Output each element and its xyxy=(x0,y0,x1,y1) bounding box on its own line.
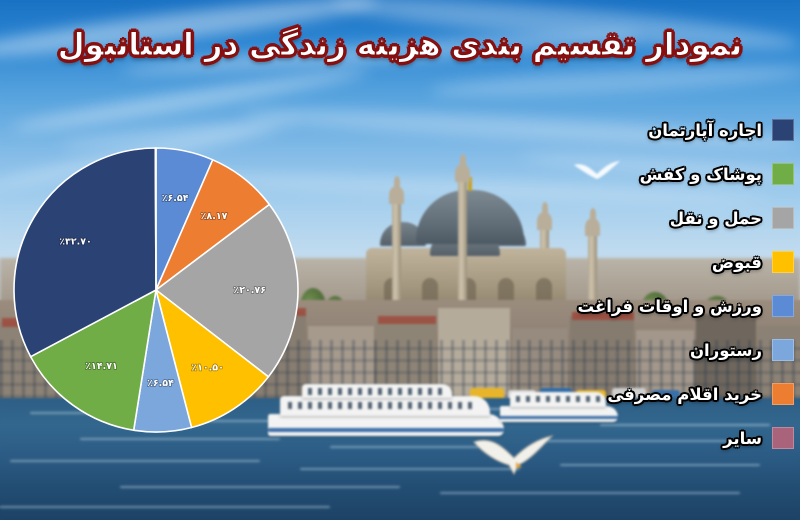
minaret-icon xyxy=(392,202,401,310)
legend-item-label: خرید اقلام مصرفی xyxy=(607,385,762,404)
legend-color-swatch xyxy=(772,251,794,273)
roof xyxy=(378,316,436,324)
legend-item[interactable]: خرید اقلام مصرفی xyxy=(544,372,794,416)
wave xyxy=(10,460,260,462)
legend-item-label: پوشاک و کفش xyxy=(640,165,762,184)
ferry-windows xyxy=(308,388,446,395)
legend-color-swatch xyxy=(772,119,794,141)
pie-slice-label: ٪۳۲.۷۰ xyxy=(59,236,92,247)
legend-item[interactable]: اجاره آپارتمان xyxy=(544,108,794,152)
chart-legend: اجاره آپارتمانپوشاک و کفشحمل و نقلقبوضور… xyxy=(544,108,794,460)
legend-color-swatch xyxy=(772,383,794,405)
page-title: نمودار تقسیم بندی هزینه زندگی در استانبو… xyxy=(58,27,743,63)
legend-item[interactable]: سایر xyxy=(544,416,794,460)
pie-chart: ٪۶.۵۴٪۸.۱۷٪۲۰.۷۶٪۱۰.۵۰٪۶.۵۴٪۱۴.۷۱٪۳۲.۷۰ xyxy=(8,138,308,438)
pie-slice-label: ٪۲۰.۷۶ xyxy=(233,285,266,296)
pie-slice-label: ٪۱۴.۷۱ xyxy=(85,361,118,372)
main-dome xyxy=(416,190,524,244)
wave xyxy=(0,506,330,508)
legend-item[interactable]: حمل و نقل xyxy=(544,196,794,240)
legend-item[interactable]: ورزش و اوقات فراغت xyxy=(544,284,794,328)
legend-item[interactable]: پوشاک و کفش xyxy=(544,152,794,196)
legend-item[interactable]: قبوض xyxy=(544,240,794,284)
legend-item-label: رستوران xyxy=(690,341,762,360)
legend-color-swatch xyxy=(772,163,794,185)
legend-item-label: اجاره آپارتمان xyxy=(648,121,762,140)
legend-color-swatch xyxy=(772,339,794,361)
pie-slice-label: ٪۶.۵۴ xyxy=(147,378,174,389)
wave xyxy=(80,438,280,440)
wave xyxy=(440,492,740,494)
legend-item[interactable]: رستوران xyxy=(544,328,794,372)
pie-slice-label: ٪۸.۱۷ xyxy=(201,211,228,222)
minaret-icon xyxy=(458,180,467,310)
legend-color-swatch xyxy=(772,295,794,317)
pie-chart-svg: ٪۶.۵۴٪۸.۱۷٪۲۰.۷۶٪۱۰.۵۰٪۶.۵۴٪۱۴.۷۱٪۳۲.۷۰ xyxy=(8,138,308,438)
legend-color-swatch xyxy=(772,427,794,449)
pie-slice-label: ٪۱۰.۵۰ xyxy=(191,363,224,374)
ferry-windows xyxy=(288,402,478,409)
wave xyxy=(330,446,490,448)
pie-slice[interactable] xyxy=(155,148,156,290)
legend-item-label: سایر xyxy=(723,429,762,448)
infographic-canvas: نمودار تقسیم بندی هزینه زندگی در استانبو… xyxy=(0,0,800,520)
wave xyxy=(560,464,760,466)
legend-item-label: قبوض xyxy=(712,253,762,272)
legend-color-swatch xyxy=(772,207,794,229)
pie-slice-label: ٪۶.۵۴ xyxy=(162,193,189,204)
legend-item-label: ورزش و اوقات فراغت xyxy=(578,297,762,316)
page-title-container: نمودار تقسیم بندی هزینه زندگی در استانبو… xyxy=(0,14,800,76)
wave xyxy=(120,486,400,488)
legend-item-label: حمل و نقل xyxy=(670,209,762,228)
